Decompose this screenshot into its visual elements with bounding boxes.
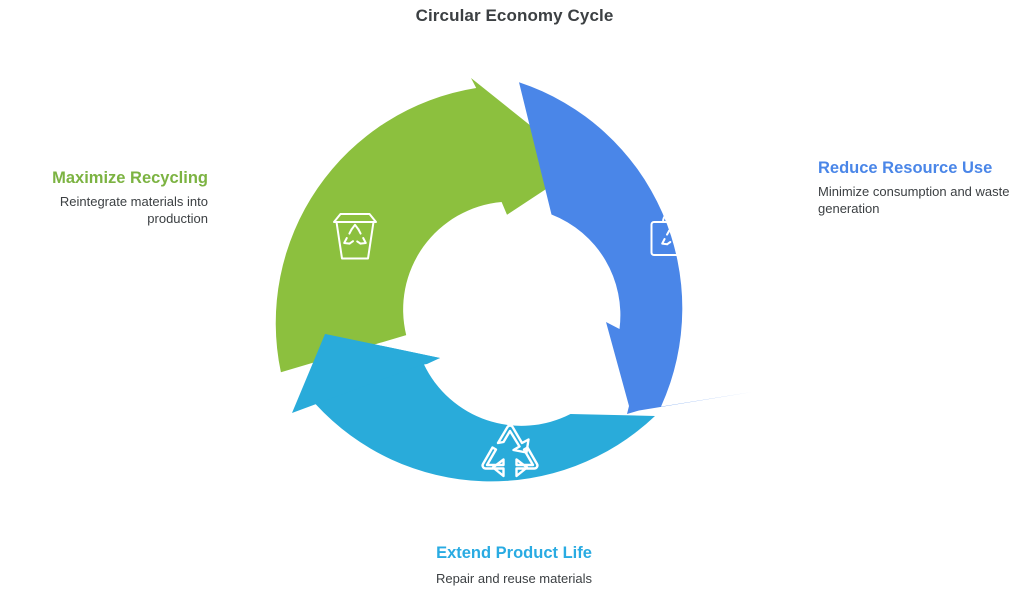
segment-maximize-recycling[interactable] (276, 78, 581, 372)
cycle-graphic (0, 0, 1029, 610)
circular-economy-diagram: Circular Economy Cycle (0, 0, 1029, 610)
node-desc-extend-product-life: Repair and reuse materials (314, 571, 714, 588)
node-desc-maximize-recycling: Reintegrate materials into production (8, 194, 208, 227)
node-title-reduce-resource-use: Reduce Resource Use (818, 158, 1021, 178)
recycle-bin-icon (334, 214, 376, 259)
shopping-bag-recycle-icon (652, 212, 696, 256)
cycle-svg (0, 0, 1029, 610)
recycle-arrows-icon (483, 426, 538, 476)
segment-arc-blue (519, 82, 752, 414)
node-title-maximize-recycling: Maximize Recycling (8, 168, 208, 188)
segment-extend-product-life[interactable] (292, 334, 655, 481)
node-title-extend-product-life: Extend Product Life (314, 543, 714, 563)
segment-arc-cyan (316, 334, 656, 481)
node-label-reduce-resource-use: Reduce Resource Use Minimize consumption… (818, 158, 1021, 217)
node-desc-reduce-resource-use: Minimize consumption and waste generatio… (818, 184, 1021, 217)
node-label-extend-product-life: Extend Product Life Repair and reuse mat… (314, 543, 714, 588)
segment-reduce-resource-use[interactable] (519, 82, 752, 414)
node-label-maximize-recycling: Maximize Recycling Reintegrate materials… (8, 168, 208, 227)
segment-arrowhead-cyan (292, 334, 440, 413)
page-title: Circular Economy Cycle (0, 6, 1029, 26)
segment-arc-green (276, 78, 581, 372)
